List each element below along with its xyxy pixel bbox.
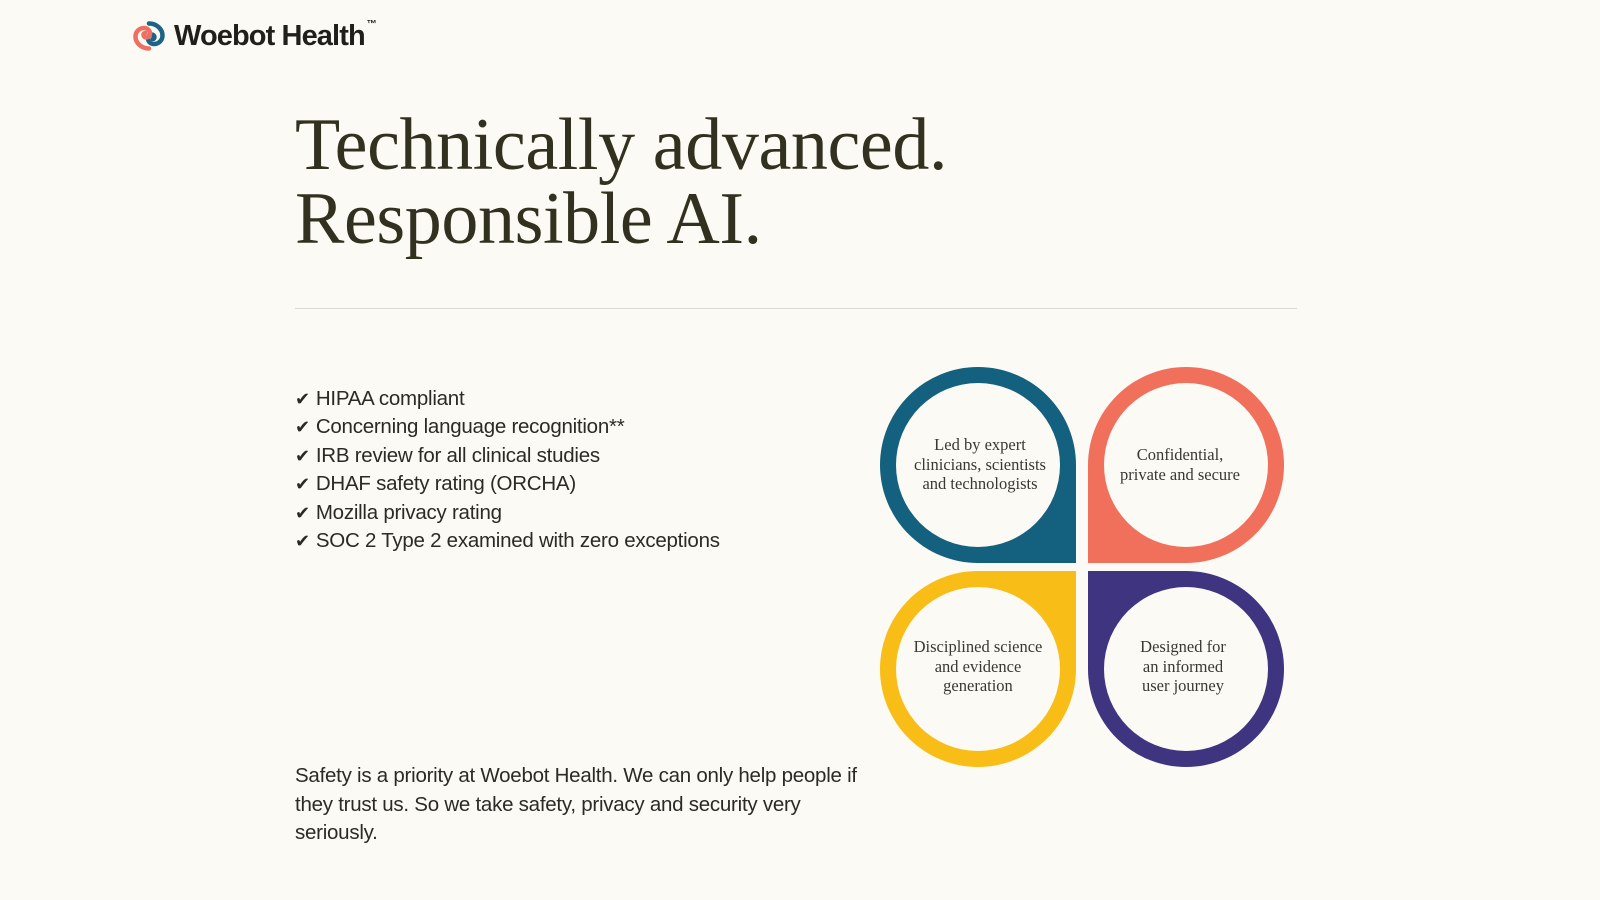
petal-label-privacy: Confidential, private and secure [1105, 445, 1255, 484]
values-diagram-graphic [880, 367, 1284, 767]
check-icon: ✔ [295, 390, 310, 408]
list-item: ✔ DHAF safety rating (ORCHA) [295, 470, 720, 498]
list-item-label: Mozilla privacy rating [316, 499, 502, 527]
list-item: ✔ HIPAA compliant [295, 385, 720, 413]
list-item-label: SOC 2 Type 2 examined with zero exceptio… [316, 527, 720, 555]
petal-label-journey: Designed for an informed user journey [1108, 637, 1258, 696]
petal-label-line: and evidence [903, 657, 1053, 677]
brand-logo[interactable]: Woebot Health™ [133, 20, 365, 52]
petal-label-line: user journey [1108, 676, 1258, 696]
petal-label-line: clinicians, scientists [905, 455, 1055, 475]
petal-label-science: Disciplined science and evidence generat… [903, 637, 1053, 696]
trademark-symbol: ™ [367, 20, 377, 30]
brand-wordmark: Woebot Health™ [174, 22, 365, 51]
check-icon: ✔ [295, 447, 310, 465]
list-item-label: Concerning language recognition** [316, 413, 625, 441]
safety-statement: Safety is a priority at Woebot Health. W… [295, 762, 863, 848]
petal-label-line: and technologists [905, 474, 1055, 494]
petal-label-line: Led by expert [905, 435, 1055, 455]
list-item: ✔ Mozilla privacy rating [295, 499, 720, 527]
check-icon: ✔ [295, 532, 310, 550]
brand-name-text: Woebot Health [174, 20, 365, 52]
petal-label-line: private and secure [1105, 465, 1255, 485]
section-divider [295, 308, 1297, 309]
petal-label-line: Designed for [1108, 637, 1258, 657]
list-item-label: HIPAA compliant [316, 385, 465, 413]
petal-label-line: generation [903, 676, 1053, 696]
feature-checklist: ✔ HIPAA compliant ✔ Concerning language … [295, 385, 720, 555]
list-item: ✔ Concerning language recognition** [295, 413, 720, 441]
list-item: ✔ SOC 2 Type 2 examined with zero except… [295, 527, 720, 555]
check-icon: ✔ [295, 475, 310, 493]
petal-label-expertise: Led by expert clinicians, scientists and… [905, 435, 1055, 494]
values-diagram: Led by expert clinicians, scientists and… [880, 367, 1284, 767]
petal-label-line: an informed [1108, 657, 1258, 677]
petal-label-line: Confidential, [1105, 445, 1255, 465]
list-item-label: DHAF safety rating (ORCHA) [316, 470, 576, 498]
check-icon: ✔ [295, 504, 310, 522]
list-item: ✔ IRB review for all clinical studies [295, 442, 720, 470]
check-icon: ✔ [295, 418, 310, 436]
petal-label-line: Disciplined science [903, 637, 1053, 657]
page-title: Technically advanced. Responsible AI. [295, 108, 1305, 256]
list-item-label: IRB review for all clinical studies [316, 442, 600, 470]
woebot-spiral-icon [133, 20, 165, 52]
